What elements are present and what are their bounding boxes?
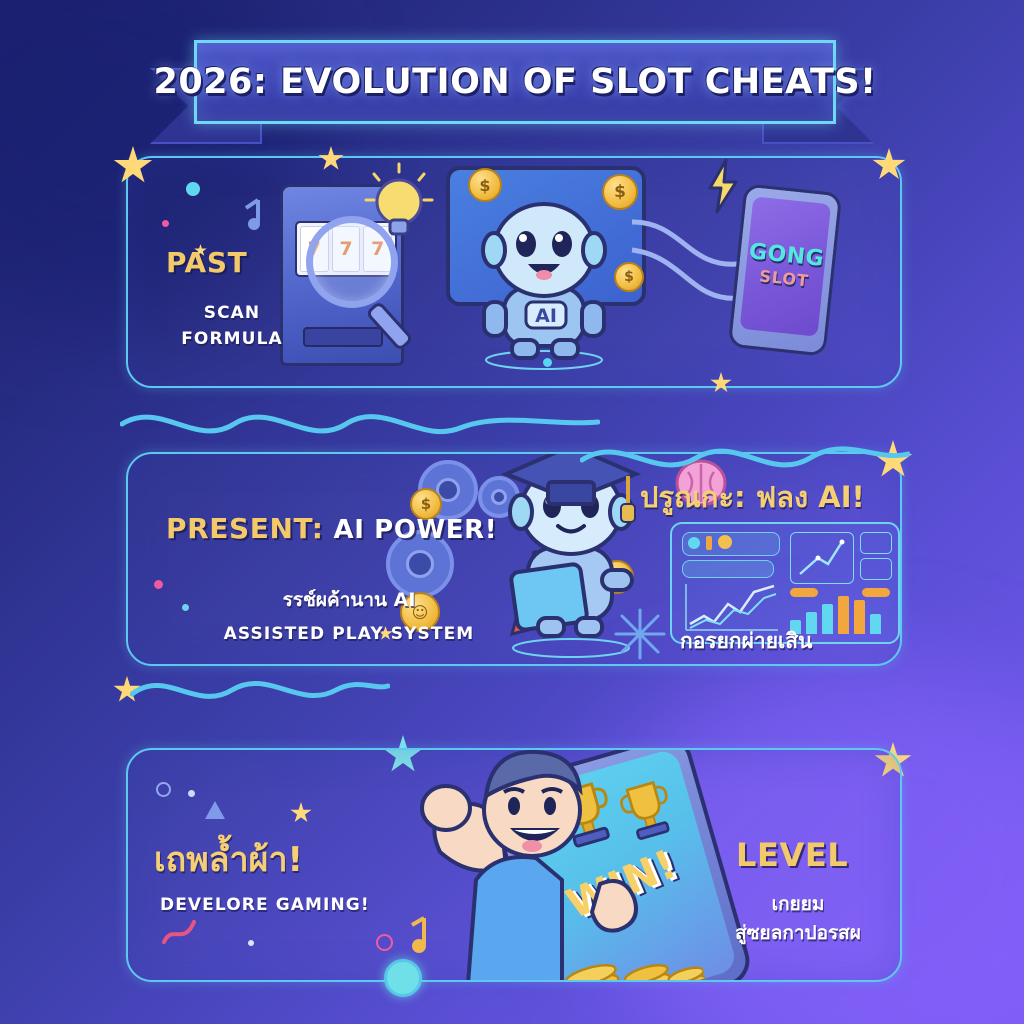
panel-level-up-content: WIN! [128, 750, 900, 980]
level-right-block: LEVEL [736, 836, 848, 874]
confetti-dot [248, 940, 254, 946]
panel-present: $ ☺ ☺ [126, 452, 902, 666]
level-right-caption: เกยยม สู่ซยลกาปอรสผ [698, 890, 898, 947]
present-label-white: AI POWER! [334, 515, 498, 545]
panel-level-up: WIN! [126, 748, 902, 982]
dashboard-widget [682, 560, 774, 578]
level-thai-line-1: เกยยม [698, 890, 898, 919]
corner-star [113, 676, 141, 704]
dashboard-dot [718, 535, 732, 549]
page-title: 2026: EVOLUTION OF SLOT CHEATS! [153, 62, 876, 102]
music-note-icon [228, 194, 272, 238]
lightning-bolt-icon [704, 158, 742, 214]
present-kicker: PRESENT: AI POWER! [166, 512, 497, 545]
brand-slot: SLOT [758, 266, 809, 290]
confetti-dot [186, 182, 200, 196]
dashboard-bar [706, 536, 712, 550]
scatter-chart [794, 536, 848, 578]
flexing-man-icon [410, 750, 660, 980]
triangle-icon [202, 798, 228, 824]
confetti-ring [156, 782, 171, 797]
lightbulb-icon [362, 162, 436, 248]
bar [854, 600, 865, 634]
past-sub-line-1: SCAN [172, 300, 292, 326]
infographic-canvas: 2026: EVOLUTION OF SLOT CHEATS! 7 7 7 [0, 0, 1024, 1024]
past-kicker: PAST [166, 246, 247, 279]
smartphone-icon: GONG SLOT [728, 183, 843, 356]
present-right-heading-text: ปรูณกะ: ฟลง AI! [640, 474, 865, 520]
slot-coin-tray [303, 327, 383, 347]
levelup-thai-label: เถพล้ำผ้า! [154, 832, 370, 886]
wavy-divider [120, 404, 600, 444]
present-right-caption-text: กอรยกผ่ายเสิน [680, 626, 812, 658]
title-ribbon: 2026: EVOLUTION OF SLOT CHEATS! [150, 32, 874, 140]
confetti-ring [376, 934, 393, 951]
bar [838, 596, 849, 634]
present-right-heading: ปรูณกะ: ฟลง AI! [640, 474, 865, 520]
present-right-caption: กอรยกผ่ายเสิน [680, 626, 812, 658]
bar [870, 614, 881, 634]
past-subtitle: SCAN FORMULA [172, 300, 292, 353]
coin-icon: $ [602, 174, 638, 210]
accent-circle [384, 959, 422, 997]
panel-past: 7 7 7 [126, 156, 902, 388]
ribbon-body: 2026: EVOLUTION OF SLOT CHEATS! [194, 40, 836, 124]
present-sub-latin: ASSISTED PLAY SYSTEM [214, 621, 484, 647]
level-thai-line-2: สู่ซยลกาปอรสผ [698, 919, 898, 948]
panel-past-content: 7 7 7 [128, 158, 900, 386]
dashboard-dot [688, 537, 700, 549]
wavy-divider [130, 668, 390, 712]
confetti-dot [188, 790, 195, 797]
confetti-dot [162, 220, 169, 227]
present-label-gold: PRESENT: [166, 512, 324, 545]
confetti-dot [154, 580, 163, 589]
panel-present-content: $ ☺ ☺ [128, 454, 900, 664]
svg-text:AI: AI [535, 305, 557, 327]
coin-icon: $ [468, 168, 502, 202]
levelup-sub-latin: DEVELORE GAMING! [160, 892, 370, 918]
present-subtitle: รรช์ผค้านาน AI ASSISTED PLAY SYSTEM [214, 586, 484, 647]
ai-robot-icon: AI [458, 192, 630, 372]
phone-screen: GONG SLOT [740, 196, 831, 336]
mini-info-box [860, 532, 892, 554]
coin-icon: $ [614, 262, 644, 292]
past-label: PAST [166, 246, 247, 279]
mini-info-box [860, 558, 892, 580]
past-sub-line-2: FORMULA [172, 326, 292, 352]
level-label: LEVEL [736, 836, 848, 874]
levelup-kicker: เถพล้ำผ้า! DEVELORE GAMING! [154, 832, 370, 918]
confetti-dot [182, 604, 189, 611]
sparkle-burst-icon [610, 606, 670, 662]
bar [822, 604, 833, 634]
present-sub-thai: รรช์ผค้านาน AI [214, 586, 484, 615]
